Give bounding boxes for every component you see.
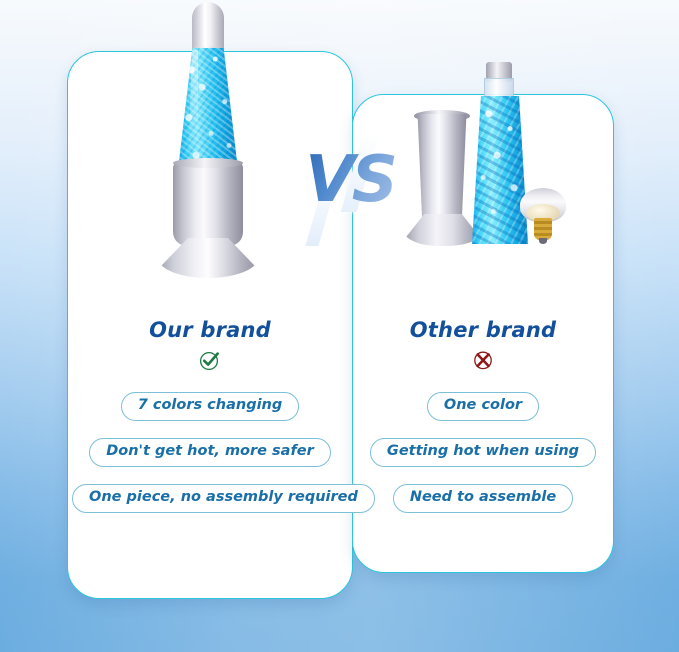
feature-pill[interactable]: 7 colors changing bbox=[121, 392, 300, 421]
our-brand-product-image bbox=[148, 2, 268, 286]
cross-circle-icon bbox=[471, 348, 495, 372]
our-brand-title: Our brand bbox=[72, 318, 348, 342]
other-brand-feature-list: One color Getting hot when using Need to… bbox=[356, 380, 610, 513]
feature-pill[interactable]: Getting hot when using bbox=[370, 438, 596, 467]
versus-label: VS bbox=[296, 148, 404, 212]
lamp-metal-base bbox=[173, 162, 243, 246]
other-brand-product-image bbox=[408, 62, 578, 262]
our-brand-content: Our brand 7 colors changing Don't get ho… bbox=[72, 318, 348, 513]
list-item: 7 colors changing bbox=[72, 380, 348, 421]
list-item: Getting hot when using bbox=[356, 421, 610, 467]
lamp-foot bbox=[158, 238, 258, 278]
comparison-infographic: VS Our brand 7 colors changing Don't get… bbox=[0, 0, 679, 652]
metal-housing-foot bbox=[404, 214, 482, 246]
versus-badge: VS bbox=[296, 140, 404, 240]
list-item: Need to assemble bbox=[356, 467, 610, 513]
lamp-glitter-body bbox=[178, 48, 238, 170]
list-item: Don't get hot, more safer bbox=[72, 421, 348, 467]
metal-housing bbox=[416, 114, 468, 222]
list-item: One color bbox=[356, 380, 610, 421]
light-bulb-tip bbox=[539, 238, 547, 244]
feature-pill[interactable]: One color bbox=[427, 392, 539, 421]
feature-pill[interactable]: Don't get hot, more safer bbox=[89, 438, 331, 467]
check-circle-icon bbox=[198, 348, 222, 372]
other-brand-content: Other brand One color Getting hot when u… bbox=[356, 318, 610, 513]
our-brand-feature-list: 7 colors changing Don't get hot, more sa… bbox=[72, 380, 348, 513]
feature-pill[interactable]: One piece, no assembly required bbox=[72, 484, 375, 513]
feature-pill[interactable]: Need to assemble bbox=[393, 484, 573, 513]
glass-bottle-glitter-body bbox=[472, 96, 528, 244]
other-brand-title: Other brand bbox=[356, 318, 610, 342]
list-item: One piece, no assembly required bbox=[72, 467, 348, 513]
light-bulb-screw-base bbox=[534, 218, 552, 240]
